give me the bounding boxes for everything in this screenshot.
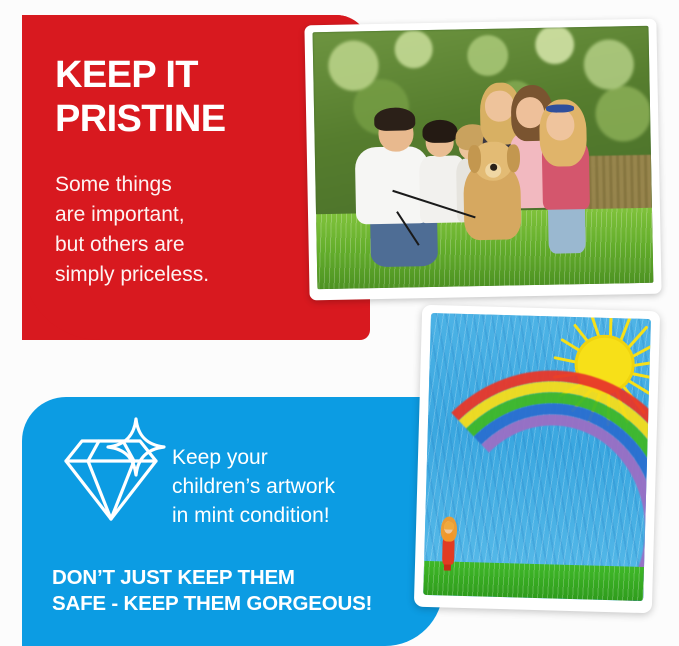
red-body-line-2: are important,: [55, 200, 345, 230]
family-with-golden-retriever-photo: [304, 19, 661, 301]
red-body-line-1: Some things: [55, 170, 345, 200]
red-body-line-3: but others are: [55, 230, 345, 260]
drawing-grass: [423, 561, 644, 601]
girl-in-pink-headband: [546, 104, 575, 112]
childrens-crayon-rainbow-drawing: [414, 305, 660, 614]
red-panel-body: Some things are important, but others ar…: [55, 170, 345, 290]
red-body-line-4: simply priceless.: [55, 260, 345, 290]
golden-retriever-right-ear: [506, 144, 520, 173]
red-heading-line-2: PRISTINE: [55, 97, 345, 141]
blue-tagline-line-2: SAFE - KEEP THEM GORGEOUS!: [52, 591, 432, 617]
family-photo-image: [313, 26, 654, 289]
blue-panel-tagline: DON’T JUST KEEP THEM SAFE - KEEP THEM GO…: [52, 565, 432, 617]
teen-girl-head: [485, 90, 514, 121]
red-heading-line-1: KEEP IT: [55, 53, 345, 97]
blue-body-line-3: in mint condition!: [172, 501, 422, 530]
blue-body-line-2: children’s artwork: [172, 472, 422, 501]
blue-panel-body: Keep your children’s artwork in mint con…: [172, 443, 422, 530]
blue-tagline-line-1: DON’T JUST KEEP THEM: [52, 565, 432, 591]
drawing-girl-fringe: [444, 521, 454, 530]
father-hair: [374, 107, 415, 131]
artwork-image: [423, 313, 651, 601]
red-panel-heading: KEEP IT PRISTINE: [55, 53, 345, 141]
diamond-sparkle-icon: [52, 415, 170, 533]
poster-canvas: KEEP IT PRISTINE Some things are importa…: [0, 0, 679, 646]
golden-retriever-nose: [490, 164, 498, 171]
blue-body-line-1: Keep your: [172, 443, 422, 472]
boy-hair: [422, 119, 458, 143]
